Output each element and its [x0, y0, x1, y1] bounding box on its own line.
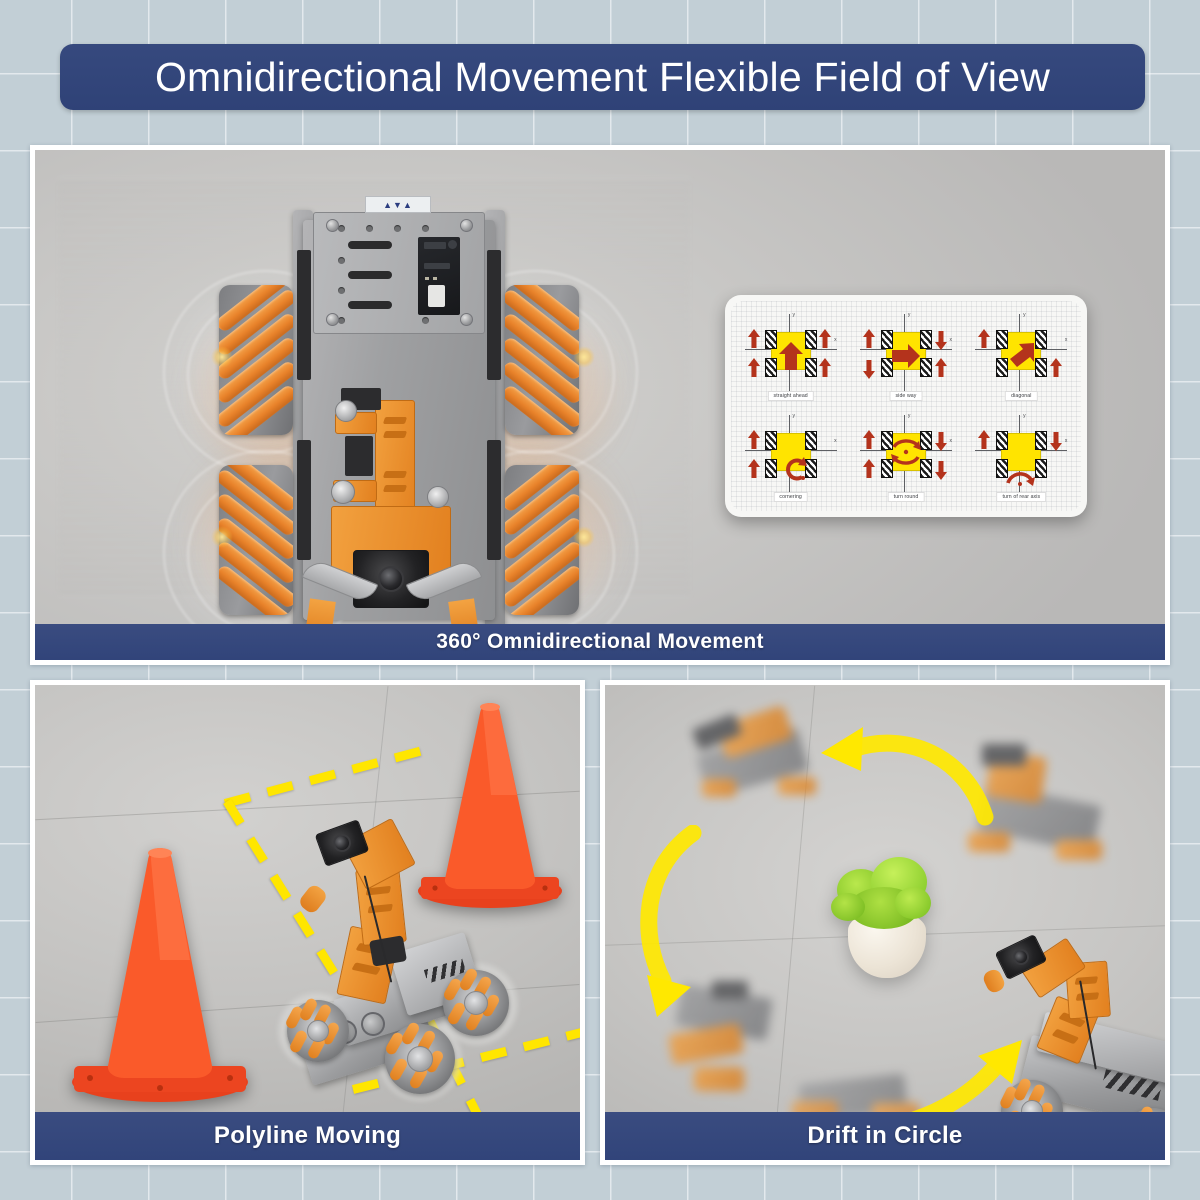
deck-screw [326, 219, 339, 232]
brand-tag: ▲▼▲ [365, 196, 431, 213]
board-connector [448, 240, 457, 249]
movement-label: straight ahead [768, 391, 814, 401]
wheel-fl [765, 431, 777, 450]
controller-board [418, 237, 460, 315]
gripper-tip [297, 883, 329, 916]
arm-vent [383, 417, 407, 424]
brand-tag-text: ▲▼▲ [383, 200, 413, 210]
wheel-fl [765, 330, 777, 349]
panel-drift-in-circle: Drift in Circle [600, 680, 1170, 1165]
movement-label: diagonal [1005, 391, 1037, 401]
caption-bar-right: Drift in Circle [605, 1112, 1165, 1160]
board-led [433, 277, 437, 280]
robot-wheel-rear-right [443, 970, 509, 1036]
wheel-fr [920, 330, 932, 349]
deck-slot [348, 271, 392, 279]
deck-hole [422, 225, 429, 232]
movement-cell-side-way: x y [848, 305, 963, 406]
wheel-fr [805, 431, 817, 450]
robot-wheel-rear-left [385, 1024, 455, 1094]
deck-screw [460, 219, 473, 232]
panel-polyline-moving: Polyline Moving [30, 680, 585, 1165]
gripper-tip-left [304, 598, 336, 624]
robot-in-focus [995, 940, 1165, 1112]
arm-gear [427, 486, 449, 508]
wheel-highlight [211, 526, 233, 548]
deck-slot [348, 241, 392, 249]
robot-ghost-top-left [690, 705, 835, 820]
potted-plant [827, 853, 947, 978]
path-segment [224, 746, 424, 808]
direction-arrow-rear-pivot [1004, 463, 1038, 487]
photo-drift-in-circle [605, 685, 1165, 1112]
robot-wheel-front-left [287, 1000, 349, 1062]
arm-gear [331, 480, 355, 504]
mecanum-wheel-rear-right [505, 465, 579, 615]
caption-bar-left: Polyline Moving [35, 1112, 580, 1160]
board-switch [428, 285, 445, 307]
scene-polyline-moving [35, 685, 580, 1112]
panel-omnidirectional-movement: ▲▼▲ [30, 145, 1170, 665]
movement-cell-straight-ahead: x y [733, 305, 848, 406]
drift-arrow-left [625, 825, 735, 1025]
wheel-rr [1035, 358, 1047, 377]
movement-cell-cornering: x y [733, 406, 848, 507]
board-led [425, 277, 429, 280]
wheel-highlight [573, 346, 595, 368]
deck-hole [366, 225, 373, 232]
arm-servo [345, 436, 373, 476]
motor-block [487, 440, 501, 560]
movement-label: turn of rear axis [996, 492, 1046, 502]
direction-arrow-forward [778, 341, 804, 371]
deck-hole [422, 317, 429, 324]
arm-gear [335, 400, 357, 422]
photo-polyline-moving [35, 685, 580, 1112]
deck-hole [338, 257, 345, 264]
board-chip [424, 263, 450, 269]
wheel-fr [1035, 330, 1047, 349]
wheel-fr [805, 330, 817, 349]
deck-slot [348, 301, 392, 309]
movement-label: side way [889, 391, 922, 401]
wheel-rr [805, 358, 817, 377]
movement-cell-diagonal: x y diagonal [964, 305, 1079, 406]
wheel-highlight [573, 526, 595, 548]
direction-arrow-right [891, 343, 921, 369]
deck-screw [460, 313, 473, 326]
wheel-fr [1035, 431, 1047, 450]
caption-bar-main: 360° Omnidirectional Movement [35, 624, 1165, 660]
deck-hole [338, 317, 345, 324]
motor-block [297, 440, 311, 560]
scene-top-down-robot: ▲▼▲ [35, 150, 1165, 624]
movement-label: cornering [773, 492, 808, 502]
motor-block [487, 250, 501, 380]
movement-label: turn round [888, 492, 925, 502]
arm-vent [383, 471, 407, 478]
wheel-highlight [211, 346, 233, 368]
movement-cell-turn-round: x y [848, 406, 963, 507]
caption-text-right: Drift in Circle [807, 1122, 962, 1150]
deck-screw [326, 313, 339, 326]
mecanum-wheel-front-right [505, 285, 579, 435]
deck-hole [394, 225, 401, 232]
photo-omnidirectional-movement: ▲▼▲ [35, 150, 1165, 624]
board-chip [424, 242, 446, 249]
wheel-rl [765, 459, 777, 478]
robot-polyline [285, 820, 515, 1100]
direction-arrow-cornering [780, 454, 810, 484]
caption-text-main: 360° Omnidirectional Movement [436, 630, 764, 654]
scene-drift-in-circle [605, 685, 1165, 1112]
movement-modes-card: x y [725, 295, 1087, 517]
deck-hole [338, 225, 345, 232]
top-deck-plate [313, 212, 485, 334]
page-title: Omnidirectional Movement Flexible Field … [155, 54, 1050, 101]
movement-modes-grid: x y [733, 305, 1079, 507]
arm-vent [383, 431, 407, 438]
direction-arrow-diagonal [1006, 341, 1036, 371]
plant-foliage [895, 887, 931, 919]
motor-block [297, 250, 311, 380]
deck-hole [338, 287, 345, 294]
arm-vent [383, 485, 407, 492]
drift-arrow-top [815, 725, 995, 830]
wheel-rr [920, 358, 932, 377]
plant-foliage [831, 893, 865, 921]
wheel-fl [996, 431, 1008, 450]
traffic-cone-front [60, 840, 260, 1105]
title-banner: Omnidirectional Movement Flexible Field … [60, 44, 1145, 110]
camera-lens [378, 566, 404, 592]
movement-cell-turn-of-rear-axis: x y [964, 406, 1079, 507]
wheel-rl [765, 358, 777, 377]
direction-arrow-spin [888, 435, 924, 469]
caption-text-left: Polyline Moving [214, 1122, 401, 1150]
